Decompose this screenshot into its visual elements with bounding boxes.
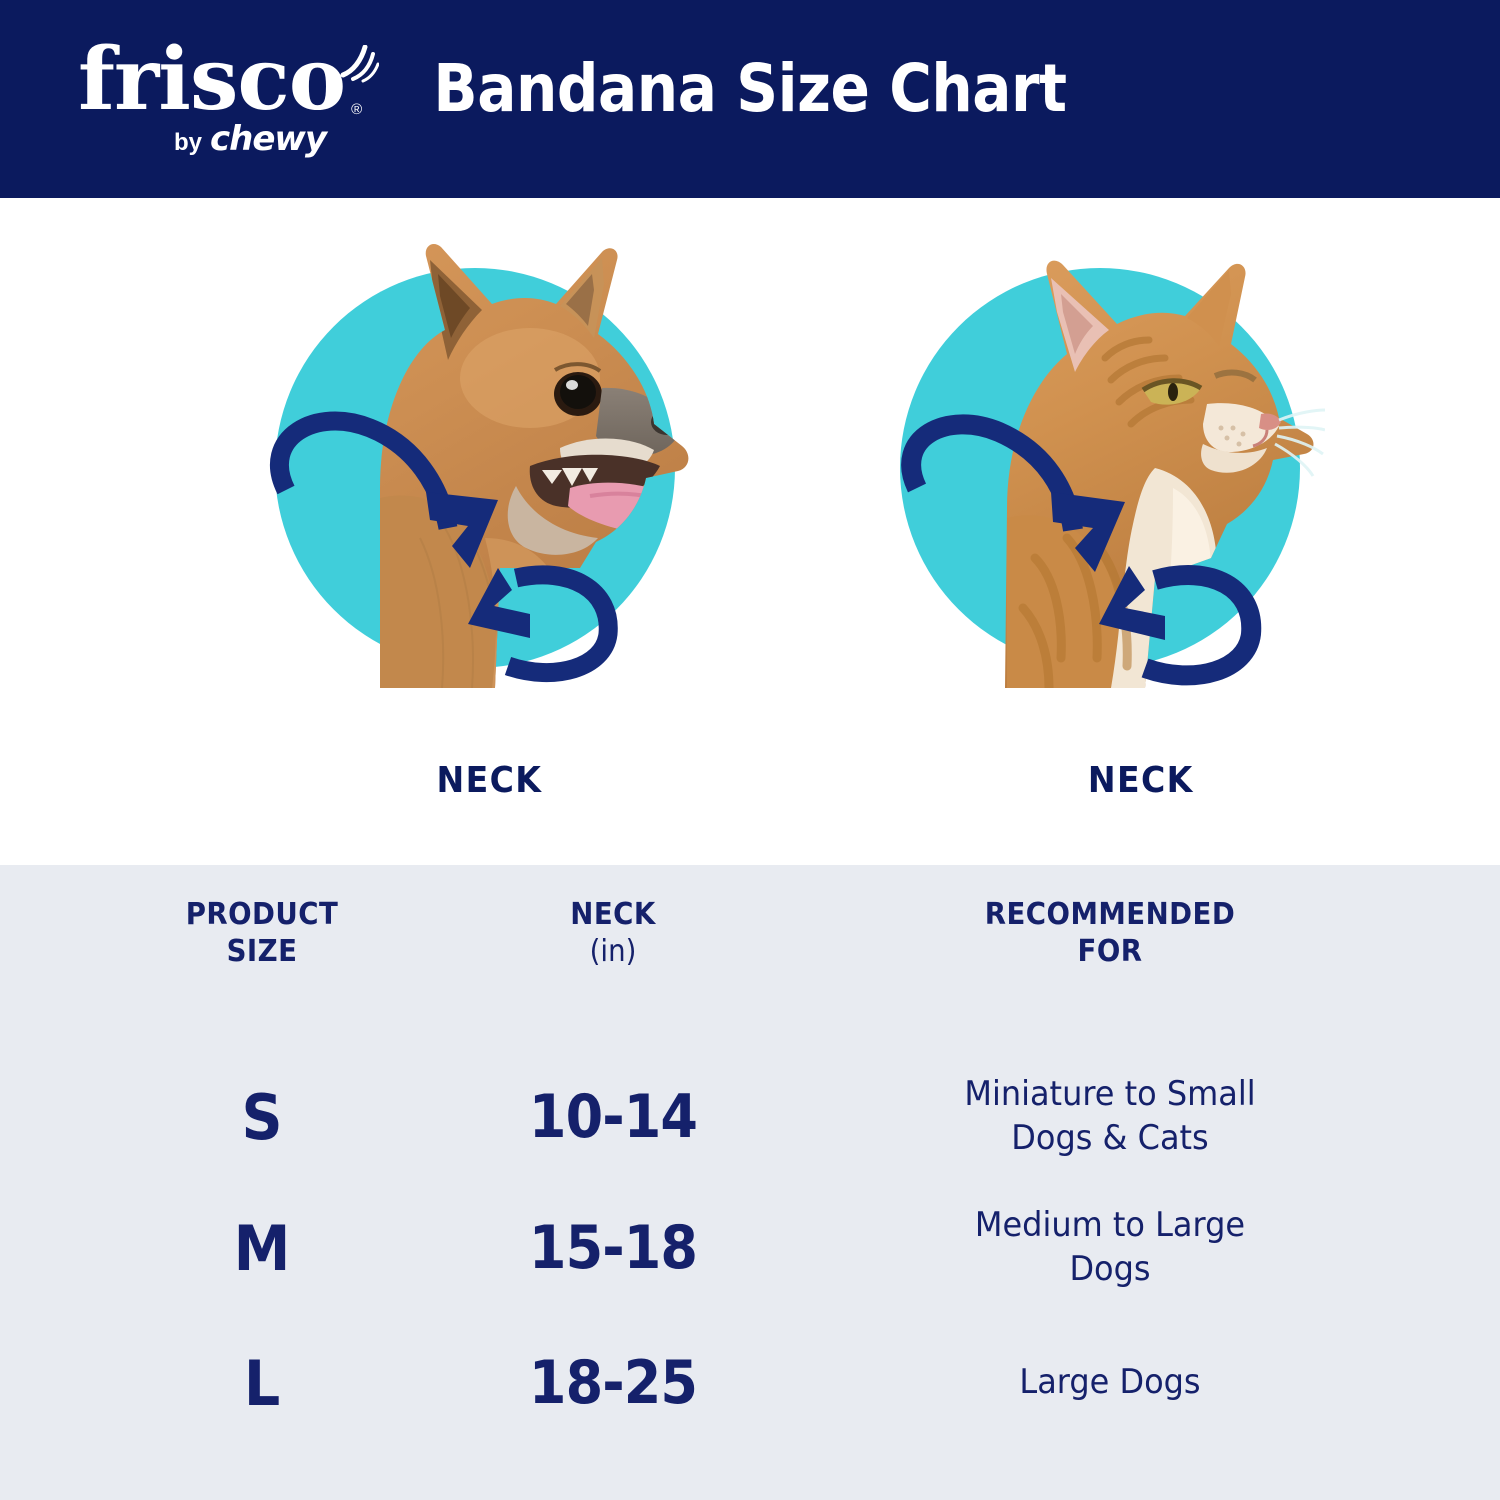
cell-recommended-for: Large Dogs xyxy=(941,1318,1279,1448)
cell-product-size: S xyxy=(133,1056,391,1178)
cell-recommended-for: Medium to Large Dogs xyxy=(941,1188,1279,1308)
page-title: Bandana Size Chart xyxy=(90,50,1410,127)
column-header-line1: RECOMMENDED xyxy=(985,897,1235,932)
column-header-line2: SIZE xyxy=(227,934,298,969)
column-header-unit: (in) xyxy=(484,934,742,971)
table-row: M 15-18 Medium to Large Dogs xyxy=(0,1188,1500,1308)
cat-neck-label: NECK xyxy=(856,760,1445,801)
column-header-product-size: PRODUCT SIZE xyxy=(133,897,391,970)
cell-product-size: M xyxy=(133,1188,391,1308)
dog-neck-label: NECK xyxy=(246,760,835,801)
cat-stage xyxy=(855,238,1325,688)
cat-illustration-column: NECK xyxy=(830,238,1470,838)
page-header: frisco ® by chewy Bandana Size Chart xyxy=(0,0,1500,198)
cat-head-icon xyxy=(855,238,1325,688)
table-row: S 10-14 Miniature to Small Dogs & Cats xyxy=(0,1056,1500,1178)
column-header-line1: PRODUCT xyxy=(186,897,339,932)
size-chart-page: frisco ® by chewy Bandana Size Chart xyxy=(0,0,1500,1500)
cell-neck: 15-18 xyxy=(487,1188,739,1308)
column-header-neck: NECK (in) xyxy=(484,897,742,970)
cell-recommended-for: Miniature to Small Dogs & Cats xyxy=(941,1056,1279,1178)
table-header-row: PRODUCT SIZE NECK (in) RECOMMENDED FOR xyxy=(0,897,1500,1047)
column-header-line2: FOR xyxy=(1078,934,1143,969)
byline-by-text: by xyxy=(174,129,202,157)
cell-neck: 18-25 xyxy=(487,1318,739,1448)
column-header-line1: NECK xyxy=(570,897,655,932)
table-row: L 18-25 Large Dogs xyxy=(0,1318,1500,1448)
dog-illustration-column: NECK xyxy=(220,238,860,838)
dog-head-icon xyxy=(230,238,700,688)
cell-neck: 10-14 xyxy=(487,1056,739,1178)
cell-product-size: L xyxy=(133,1318,391,1448)
dog-stage xyxy=(230,238,700,688)
column-header-recommended-for: RECOMMENDED FOR xyxy=(958,897,1262,970)
illustration-band: NECK xyxy=(0,198,1500,865)
